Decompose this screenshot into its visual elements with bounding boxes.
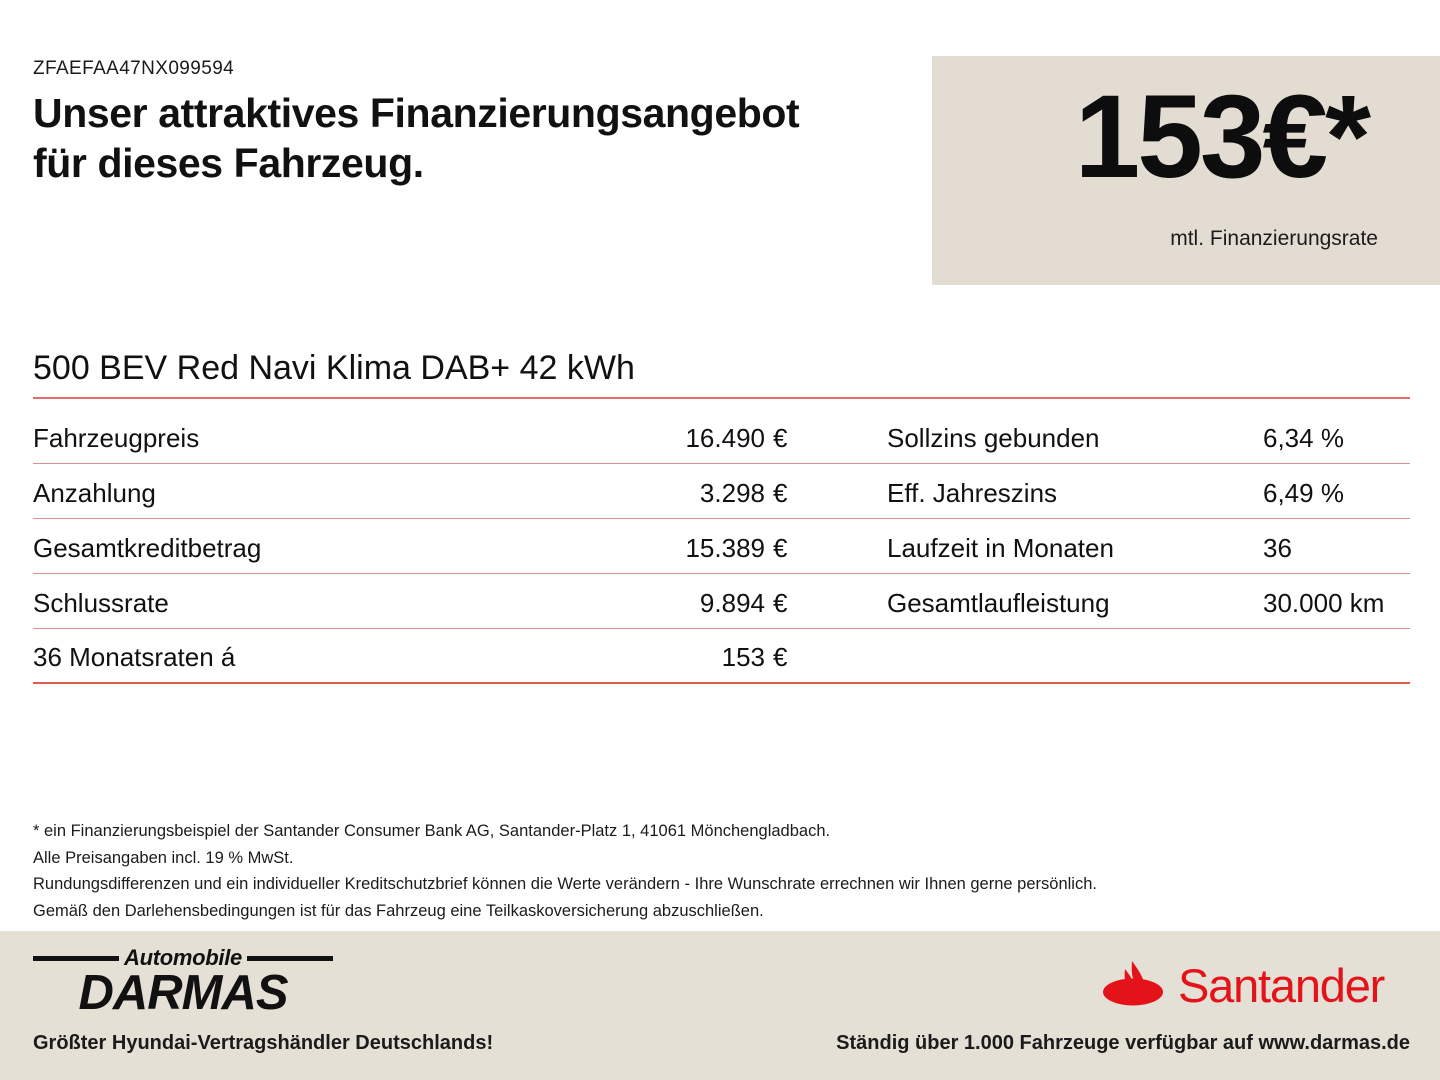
- financing-offer-page: ZFAEFAA47NX099594 Unser attraktives Fina…: [0, 0, 1440, 1080]
- table-row: Gesamtkreditbetrag 15.389 € Laufzeit in …: [33, 518, 1410, 573]
- spec-value-empty: [1263, 628, 1410, 683]
- spec-label-sollzins-gebunden: Sollzins gebunden: [873, 408, 1263, 463]
- spec-unit-fahrzeugpreis: €: [773, 408, 873, 463]
- page-headline: Unser attraktives Finanzierungsangebot f…: [33, 88, 799, 188]
- spec-label-gesamtkreditbetrag: Gesamtkreditbetrag: [33, 518, 503, 573]
- spec-label-laufzeit-in-monaten: Laufzeit in Monaten: [873, 518, 1263, 573]
- table-row: Fahrzeugpreis 16.490 € Sollzins gebunden…: [33, 408, 1410, 463]
- spec-value-anzahlung: 3.298: [503, 463, 773, 518]
- santander-wordmark: Santander: [1178, 962, 1384, 1009]
- table-row: 36 Monatsraten á 153 €: [33, 628, 1410, 683]
- spec-unit-anzahlung: €: [773, 463, 873, 518]
- spec-value-fahrzeugpreis: 16.490: [503, 408, 773, 463]
- dealer-tagline: Größter Hyundai-Vertragshändler Deutschl…: [33, 1032, 493, 1055]
- darmas-logo-automobile: Automobile: [119, 947, 247, 969]
- spec-value-eff-jahreszins: 6,49 %: [1263, 463, 1410, 518]
- monthly-rate-box: 153€* mtl. Finanzierungsrate: [932, 56, 1440, 285]
- spec-unit-monatsraten: €: [773, 628, 873, 683]
- santander-logo: Santander: [1102, 959, 1384, 1012]
- page-footer: Automobile DARMAS Größter Hyundai-Vertra…: [0, 931, 1440, 1080]
- vehicle-title: 500 BEV Red Navi Klima DAB+ 42 kWh: [33, 350, 1410, 399]
- spec-value-schlussrate: 9.894: [503, 573, 773, 628]
- spec-unit-schlussrate: €: [773, 573, 873, 628]
- footnote-line-3: Rundungsdifferenzen und ein individuelle…: [33, 871, 1373, 898]
- darmas-logo-wordmark: DARMAS: [33, 969, 333, 1018]
- darmas-logo-top-row: Automobile: [33, 945, 333, 971]
- logo-rule-right-icon: [247, 956, 333, 961]
- spec-label-eff-jahreszins: Eff. Jahreszins: [873, 463, 1263, 518]
- spec-label-anzahlung: Anzahlung: [33, 463, 503, 518]
- vehicle-identification-number: ZFAEFAA47NX099594: [33, 58, 234, 80]
- monthly-rate-caption: mtl. Finanzierungsrate: [1170, 227, 1378, 251]
- monthly-rate-amount: 153€*: [1075, 78, 1368, 196]
- spec-label-gesamtlaufleistung: Gesamtlaufleistung: [873, 573, 1263, 628]
- santander-flame-icon: [1102, 959, 1164, 1012]
- footnote-line-1: * ein Finanzierungsbeispiel der Santande…: [33, 818, 1373, 845]
- spec-value-monatsraten: 153: [503, 628, 773, 683]
- spec-unit-gesamtkreditbetrag: €: [773, 518, 873, 573]
- bank-tagline: Ständig über 1.000 Fahrzeuge verfügbar a…: [836, 1032, 1410, 1055]
- spec-value-sollzins-gebunden: 6,34 %: [1263, 408, 1410, 463]
- spec-label-fahrzeugpreis: Fahrzeugpreis: [33, 408, 503, 463]
- logo-rule-left-icon: [33, 956, 119, 961]
- footnote-line-2: Alle Preisangaben incl. 19 % MwSt.: [33, 845, 1373, 872]
- darmas-logo: Automobile DARMAS: [33, 945, 333, 1011]
- spec-value-gesamtkreditbetrag: 15.389: [503, 518, 773, 573]
- spec-label-empty: [873, 628, 1263, 683]
- table-row: Anzahlung 3.298 € Eff. Jahreszins 6,49 %: [33, 463, 1410, 518]
- spec-value-laufzeit-in-monaten: 36: [1263, 518, 1410, 573]
- spec-value-gesamtlaufleistung: 30.000 km: [1263, 573, 1410, 628]
- financing-spec-table: Fahrzeugpreis 16.490 € Sollzins gebunden…: [33, 408, 1410, 684]
- footnote-line-4: Gemäß den Darlehensbedingungen ist für d…: [33, 898, 1373, 925]
- spec-label-schlussrate: Schlussrate: [33, 573, 503, 628]
- spec-label-monatsraten: 36 Monatsraten á: [33, 628, 503, 683]
- table-row: Schlussrate 9.894 € Gesamtlaufleistung 3…: [33, 573, 1410, 628]
